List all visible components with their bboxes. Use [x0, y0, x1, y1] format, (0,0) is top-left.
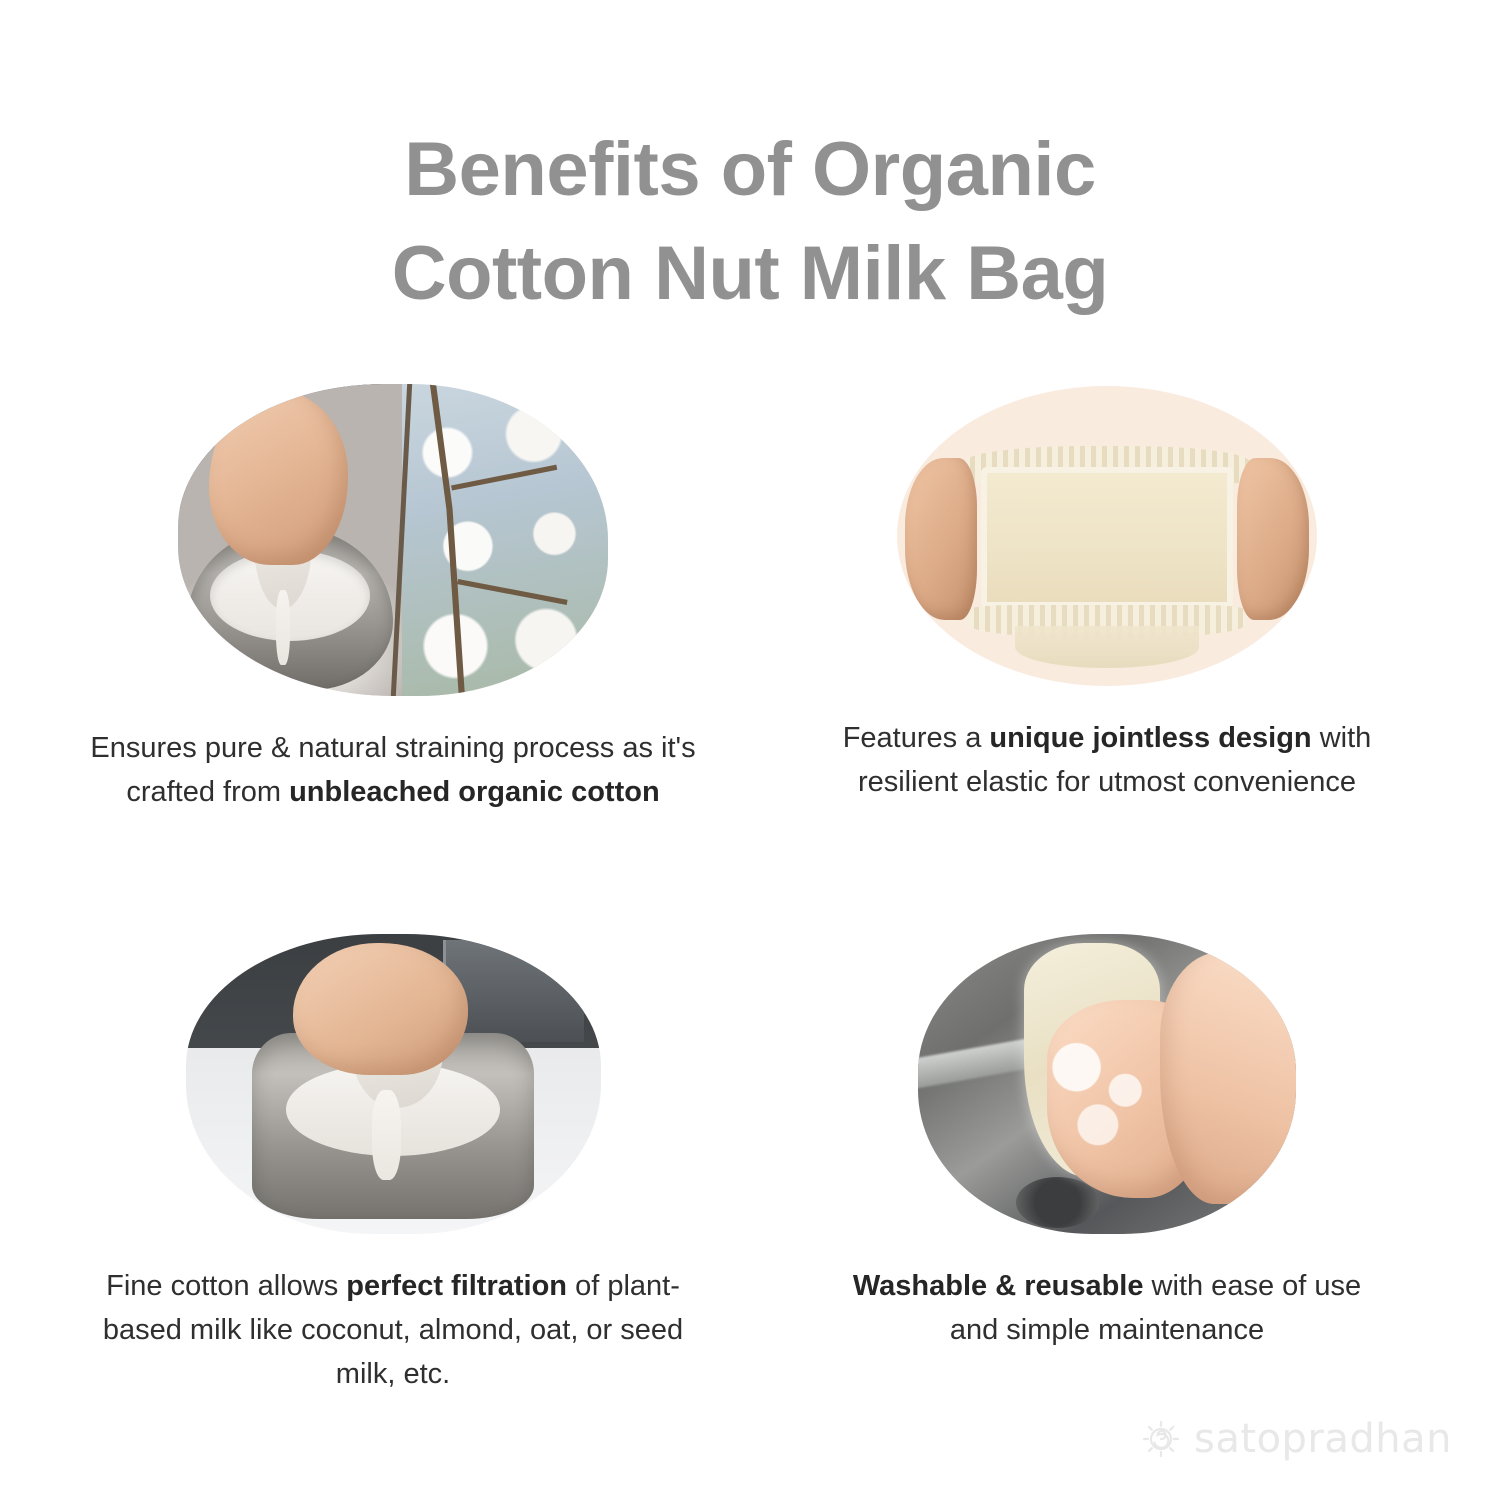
brand-watermark: satopradhan [1138, 1416, 1452, 1462]
bag-skirt [1015, 626, 1200, 668]
washing-bag-in-sink-photo [918, 934, 1296, 1234]
benefit-card-pure-natural-straining: Ensures pure & natural straining process… [58, 378, 728, 814]
cotton-plant-half [402, 384, 608, 696]
page-title: Benefits of Organic Cotton Nut Milk Bag [0, 118, 1500, 326]
benefits-row-2: Fine cotton allows perfect filtration of… [0, 924, 1500, 1444]
caption-text-regular-1: Features a [843, 722, 990, 754]
milk-pour-stream [372, 1090, 401, 1180]
benefits-grid: Ensures pure & natural straining process… [0, 378, 1500, 1444]
caption-text-regular-1: Fine cotton allows [106, 1270, 346, 1302]
straining-plant-milk-into-pot-photo [186, 934, 601, 1234]
benefit-caption-unique-jointless-design: Features a unique jointless design with … [827, 716, 1387, 804]
benefits-row-1: Ensures pure & natural straining process… [0, 378, 1500, 878]
left-hand [905, 458, 976, 620]
caption-text-bold: Washable & reusable [853, 1270, 1144, 1302]
page-title-line-1: Benefits of Organic [0, 118, 1500, 222]
soap-foam [1031, 1024, 1182, 1168]
caption-text-bold: unbleached organic cotton [289, 776, 660, 808]
stretched-bag-elastic-photo [897, 386, 1317, 686]
benefit-card-unique-jointless-design: Features a unique jointless design with … [772, 378, 1442, 804]
milk-pour-stream [276, 590, 289, 665]
right-hand [1237, 458, 1308, 620]
squeezing-hands [293, 943, 467, 1075]
page-title-line-2: Cotton Nut Milk Bag [0, 222, 1500, 326]
benefit-card-washable-reusable: Washable & reusable with ease of use and… [772, 924, 1442, 1352]
caption-text-bold: perfect filtration [346, 1270, 567, 1302]
caption-text-bold: unique jointless design [989, 722, 1311, 754]
benefit-card-perfect-filtration: Fine cotton allows perfect filtration of… [58, 924, 728, 1396]
infographic-page: Benefits of Organic Cotton Nut Milk Bag [0, 0, 1500, 1500]
squeezing-hands [209, 390, 348, 565]
benefit-caption-perfect-filtration: Fine cotton allows perfect filtration of… [83, 1264, 703, 1396]
sink-drain [1016, 1177, 1099, 1228]
straining-and-cotton-plant-photo [178, 384, 608, 696]
bag-body [981, 467, 1233, 608]
brand-name: satopradhan [1194, 1416, 1452, 1462]
benefit-caption-pure-natural-straining: Ensures pure & natural straining process… [83, 726, 703, 814]
benefit-caption-washable-reusable: Washable & reusable with ease of use and… [827, 1264, 1387, 1352]
cotton-branch-icon [402, 384, 608, 696]
straining-half [178, 384, 402, 696]
sun-spiral-icon [1138, 1416, 1184, 1462]
